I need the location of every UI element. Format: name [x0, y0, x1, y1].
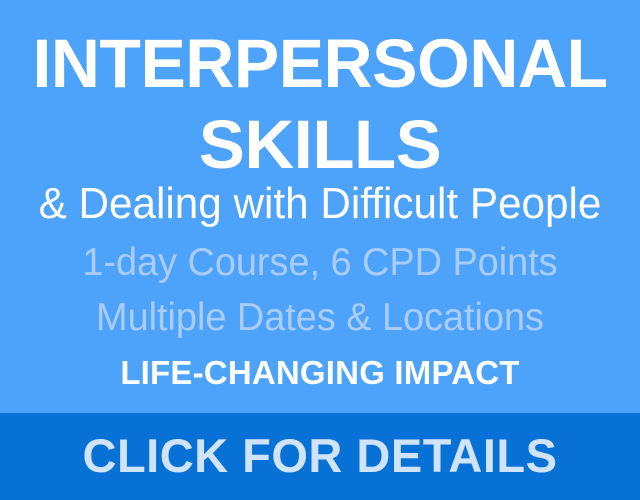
- advertisement-banner[interactable]: INTERPERSONAL SKILLS & Dealing with Diff…: [0, 0, 640, 500]
- headline-line-2: SKILLS: [0, 110, 640, 179]
- call-to-action-label: CLICK FOR DETAILS: [83, 432, 558, 479]
- ad-copy-area: INTERPERSONAL SKILLS & Dealing with Diff…: [0, 0, 640, 413]
- detail-line-course-duration: 1-day Course, 6 CPD Points: [10, 243, 631, 282]
- subheadline: & Dealing with Difficult People: [13, 182, 627, 226]
- headline-line-1: INTERPERSONAL: [5, 29, 635, 98]
- call-to-action-bar[interactable]: CLICK FOR DETAILS: [0, 413, 640, 500]
- impact-statement: LIFE-CHANGING IMPACT: [0, 356, 640, 389]
- detail-line-dates-locations: Multiple Dates & Locations: [10, 298, 631, 337]
